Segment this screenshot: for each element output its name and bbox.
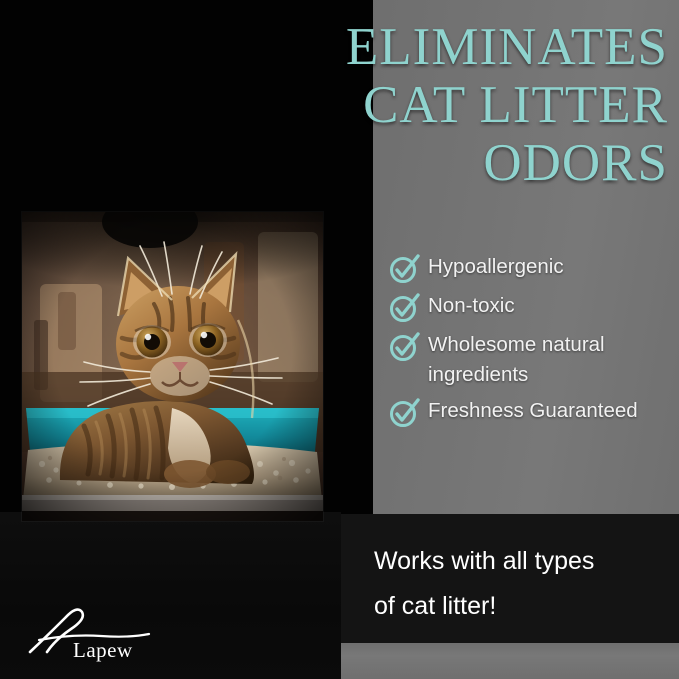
works-with-callout-text: Works with all types of cat litter!	[374, 539, 664, 629]
product-infographic-poster: ELIMINATES CAT LITTER ODORS	[0, 0, 679, 679]
check-circle-icon	[388, 329, 422, 363]
page-title: ELIMINATES CAT LITTER ODORS	[300, 18, 668, 192]
list-item-label: Wholesome natural ingredients	[422, 328, 605, 390]
list-item: Hypoallergenic	[388, 250, 673, 285]
feature-list: Hypoallergenic Non-toxic Wholesome natur…	[388, 250, 673, 433]
works-with-callout-card: Works with all types of cat litter!	[341, 514, 679, 643]
list-item-label: Freshness Guaranteed	[422, 394, 638, 428]
brand-logo: Lapew	[25, 600, 185, 666]
list-item: Non-toxic	[388, 289, 673, 324]
list-item-label: Hypoallergenic	[422, 250, 564, 284]
list-item: Freshness Guaranteed	[388, 394, 673, 429]
list-item-label: Non-toxic	[422, 289, 515, 323]
list-item: Wholesome natural ingredients	[388, 328, 673, 390]
tabby-kitten-in-litter-box-photo	[22, 212, 323, 521]
check-circle-icon	[388, 290, 422, 324]
brand-wordmark: Lapew	[73, 638, 133, 663]
check-circle-icon	[388, 251, 422, 285]
check-circle-icon	[388, 395, 422, 429]
